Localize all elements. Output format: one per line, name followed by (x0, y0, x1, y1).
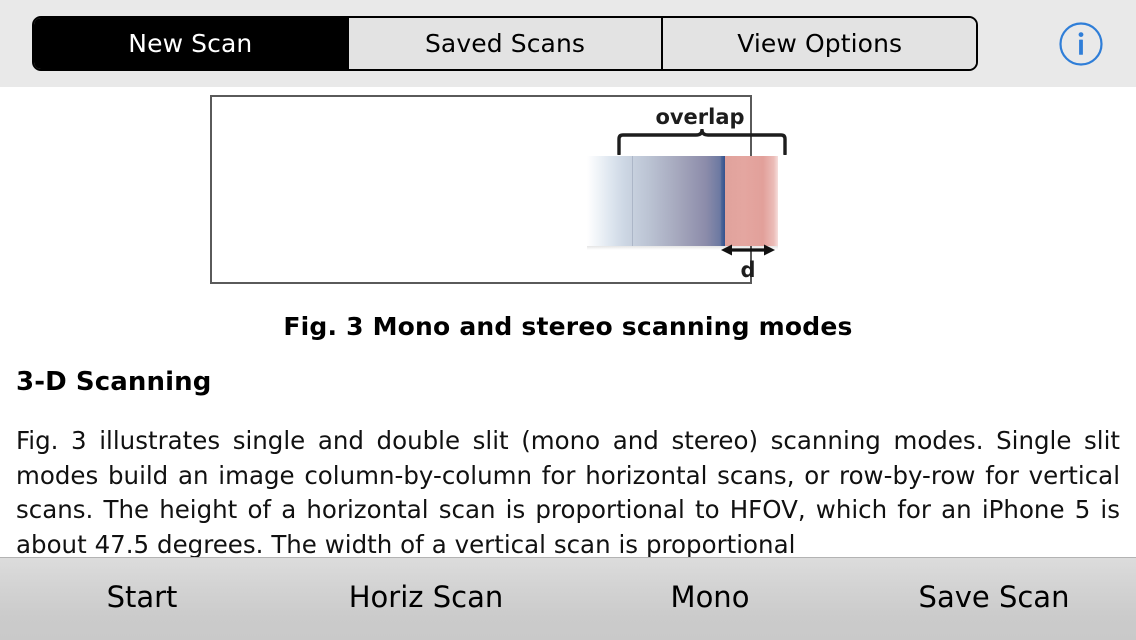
save-scan-button[interactable]: Save Scan (852, 583, 1136, 616)
d-dimension-label: d (718, 258, 778, 282)
figure-inner-canvas: overlap d (212, 97, 750, 282)
horiz-scan-button[interactable]: Horiz Scan (284, 583, 568, 616)
overlap-brace-icon (616, 129, 788, 155)
mono-slit-gradient (587, 156, 725, 246)
tab-new-scan[interactable]: New Scan (34, 18, 349, 69)
figure-3-image: overlap d (210, 95, 752, 284)
overlap-label: overlap (610, 105, 790, 129)
tab-saved-scans[interactable]: Saved Scans (349, 18, 664, 69)
info-circle-icon[interactable] (1058, 21, 1104, 67)
mono-button-label: Mono (671, 580, 750, 614)
start-button-label: Start (107, 580, 178, 614)
document-content-area[interactable]: overlap d (0, 87, 1136, 557)
tab-view-options-label: View Options (737, 29, 902, 58)
tab-view-options[interactable]: View Options (663, 18, 976, 69)
stereo-slit-gradient (725, 156, 778, 246)
top-header-bar: New Scan Saved Scans View Options (0, 0, 1136, 87)
tab-new-scan-label: New Scan (128, 29, 252, 58)
mono-button[interactable]: Mono (568, 583, 852, 616)
save-scan-button-label: Save Scan (919, 580, 1070, 614)
section-heading-3d-scanning: 3-D Scanning (16, 367, 211, 397)
body-paragraph: Fig. 3 illustrates single and double sli… (16, 424, 1120, 557)
app-root: New Scan Saved Scans View Options overla… (0, 0, 1136, 640)
bottom-toolbar: Start Horiz Scan Mono Save Scan (0, 557, 1136, 640)
start-button[interactable]: Start (0, 583, 284, 616)
mode-segmented-control[interactable]: New Scan Saved Scans View Options (32, 16, 978, 71)
slit-seam-divider (632, 156, 633, 246)
tab-saved-scans-label: Saved Scans (425, 29, 585, 58)
figure-caption: Fig. 3 Mono and stereo scanning modes (0, 312, 1136, 341)
horiz-scan-button-label: Horiz Scan (349, 580, 503, 614)
d-dimension-arrow-icon (718, 240, 778, 260)
